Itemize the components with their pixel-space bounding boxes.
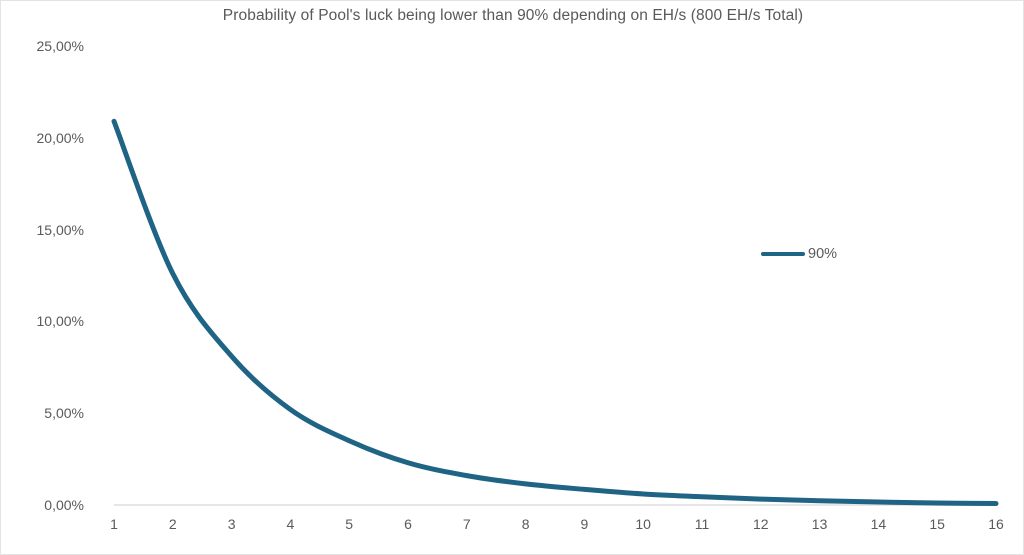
y-axis-tick-label: 0,00% [44, 497, 84, 513]
x-axis-tick-label: 12 [753, 516, 769, 532]
x-axis: 12345678910111213141516 [114, 516, 996, 546]
x-axis-tick-label: 6 [404, 516, 412, 532]
x-axis-tick-label: 2 [169, 516, 177, 532]
x-axis-tick-label: 11 [695, 516, 710, 532]
legend-label-90: 90% [808, 246, 837, 262]
y-axis: 0,00%5,00%10,00%15,00%20,00%25,00% [1, 1, 104, 555]
chart-container: Probability of Pool's luck being lower t… [0, 0, 1024, 555]
x-axis-tick-label: 4 [286, 516, 294, 532]
x-axis-tick-label: 9 [580, 516, 588, 532]
x-axis-tick-label: 7 [463, 516, 471, 532]
chart-title: Probability of Pool's luck being lower t… [1, 7, 1024, 25]
series-line-90 [114, 46, 996, 505]
x-axis-tick-label: 8 [522, 516, 530, 532]
x-axis-tick-label: 5 [345, 516, 353, 532]
plot-area [114, 46, 996, 505]
legend[interactable]: 90% [761, 246, 837, 262]
x-axis-tick-label: 3 [228, 516, 236, 532]
y-axis-tick-label: 10,00% [37, 313, 84, 329]
x-axis-tick-label: 14 [871, 516, 887, 532]
x-axis-tick-label: 10 [635, 516, 651, 532]
x-axis-tick-label: 1 [110, 516, 118, 532]
legend-swatch-90 [761, 252, 805, 256]
y-axis-tick-label: 20,00% [37, 130, 84, 146]
x-axis-tick-label: 13 [812, 516, 828, 532]
y-axis-tick-label: 25,00% [37, 38, 84, 54]
y-axis-tick-label: 15,00% [37, 222, 84, 238]
x-axis-tick-label: 16 [988, 516, 1004, 532]
data-line [114, 121, 996, 503]
x-axis-tick-label: 15 [929, 516, 945, 532]
y-axis-tick-label: 5,00% [44, 405, 84, 421]
